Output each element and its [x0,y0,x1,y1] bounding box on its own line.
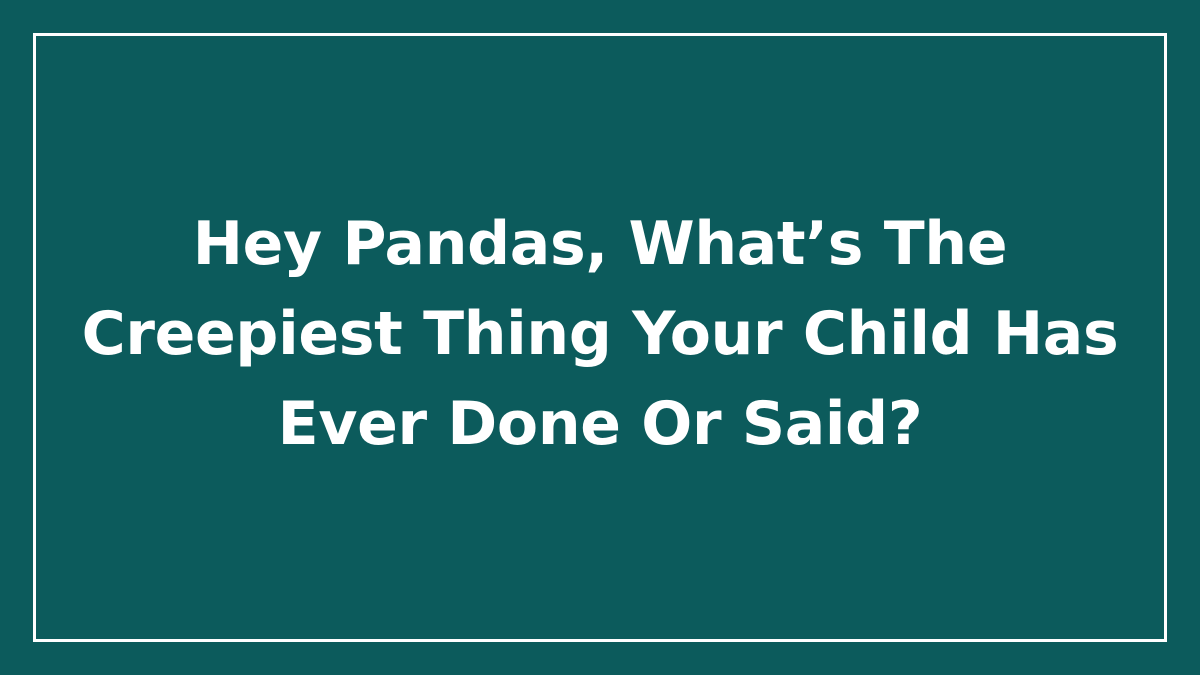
headline-line-1: Hey Pandas, What’s The [75,199,1125,289]
headline-block: Hey Pandas, What’s The Creepiest Thing Y… [33,33,1167,642]
title-card: Hey Pandas, What’s The Creepiest Thing Y… [0,0,1200,675]
headline-line-3: Ever Done Or Said? [75,379,1125,469]
headline-line-2: Creepiest Thing Your Child Has [75,289,1125,379]
